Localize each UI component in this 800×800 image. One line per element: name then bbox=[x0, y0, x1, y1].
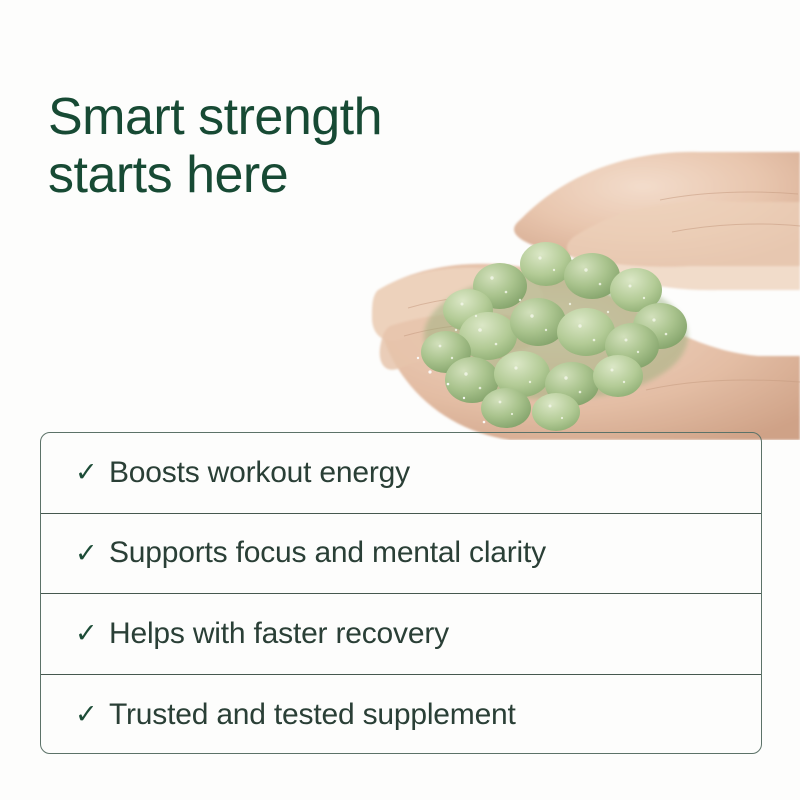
benefit-row: ✓ Helps with faster recovery bbox=[41, 594, 761, 675]
benefit-label: Boosts workout energy bbox=[109, 456, 410, 490]
check-icon: ✓ bbox=[75, 459, 109, 486]
check-icon: ✓ bbox=[75, 540, 109, 567]
check-icon: ✓ bbox=[75, 701, 109, 728]
benefit-row: ✓ Boosts workout energy bbox=[41, 433, 761, 514]
promo-canvas: Smart strength starts here bbox=[0, 0, 800, 800]
check-icon: ✓ bbox=[75, 620, 109, 647]
benefit-label: Helps with faster recovery bbox=[109, 617, 449, 651]
benefit-row: ✓ Supports focus and mental clarity bbox=[41, 514, 761, 595]
hero-image bbox=[360, 140, 800, 440]
benefit-label: Supports focus and mental clarity bbox=[109, 536, 546, 570]
hands-holding-gummies-illustration bbox=[360, 140, 800, 440]
benefit-label: Trusted and tested supplement bbox=[109, 698, 516, 732]
benefits-card: ✓ Boosts workout energy ✓ Supports focus… bbox=[40, 432, 762, 754]
benefit-row: ✓ Trusted and tested supplement bbox=[41, 675, 761, 755]
